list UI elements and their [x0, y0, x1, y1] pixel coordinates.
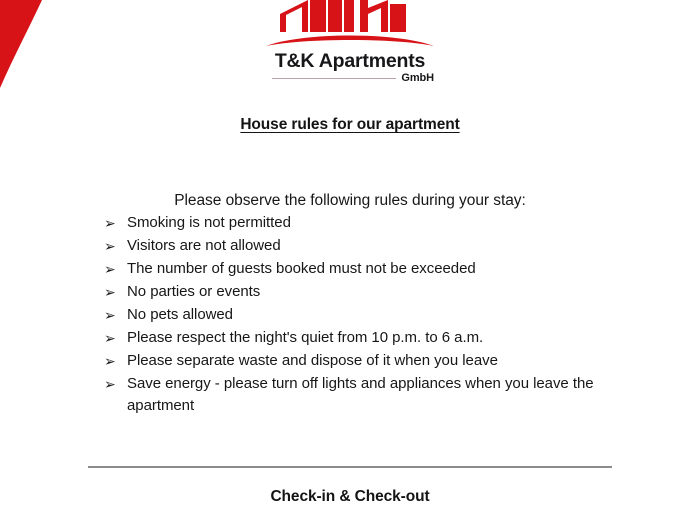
arrow-bullet-icon: ➢ — [104, 281, 127, 303]
arrow-bullet-icon: ➢ — [104, 235, 127, 257]
list-item: ➢ Please separate waste and dispose of i… — [104, 350, 660, 372]
list-item-label: Smoking is not permitted — [127, 212, 627, 234]
section-divider — [88, 466, 612, 468]
arrow-bullet-icon: ➢ — [104, 212, 127, 234]
list-item: ➢ Save energy - please turn off lights a… — [104, 373, 660, 417]
list-item-label: The number of guests booked must not be … — [127, 258, 627, 280]
list-item-label: No parties or events — [127, 281, 627, 303]
list-item-label: Visitors are not allowed — [127, 235, 627, 257]
arrow-bullet-icon: ➢ — [104, 258, 127, 280]
arrow-bullet-icon: ➢ — [104, 327, 127, 349]
brand-name: T&K Apartments — [275, 51, 425, 71]
list-item: ➢ Smoking is not permitted — [104, 212, 660, 234]
brand-logo: T&K Apartments GmbH — [0, 0, 700, 84]
brand-wordmark: T&K Apartments GmbH — [264, 51, 436, 84]
footer-section-heading: Check-in & Check-out — [0, 488, 700, 506]
list-item-label: No pets allowed — [127, 304, 627, 326]
list-item: ➢ No pets allowed — [104, 304, 660, 326]
page-title: House rules for our apartment — [0, 116, 700, 134]
brand-legal-form: GmbH — [401, 72, 436, 84]
buildings-on-arc-icon — [264, 0, 436, 50]
list-item: ➢ Please respect the night's quiet from … — [104, 327, 660, 349]
list-item: ➢ No parties or events — [104, 281, 660, 303]
arrow-bullet-icon: ➢ — [104, 304, 127, 326]
list-item-label: Please respect the night's quiet from 10… — [127, 327, 627, 349]
intro-text: Please observe the following rules durin… — [0, 192, 700, 210]
brand-divider-line — [272, 78, 396, 79]
arrow-bullet-icon: ➢ — [104, 373, 127, 395]
list-item: ➢ Visitors are not allowed — [104, 235, 660, 257]
house-rules-list: ➢ Smoking is not permitted ➢ Visitors ar… — [104, 212, 660, 418]
arrow-bullet-icon: ➢ — [104, 350, 127, 372]
list-item: ➢ The number of guests booked must not b… — [104, 258, 660, 280]
list-item-label: Save energy - please turn off lights and… — [127, 373, 627, 417]
list-item-label: Please separate waste and dispose of it … — [127, 350, 627, 372]
